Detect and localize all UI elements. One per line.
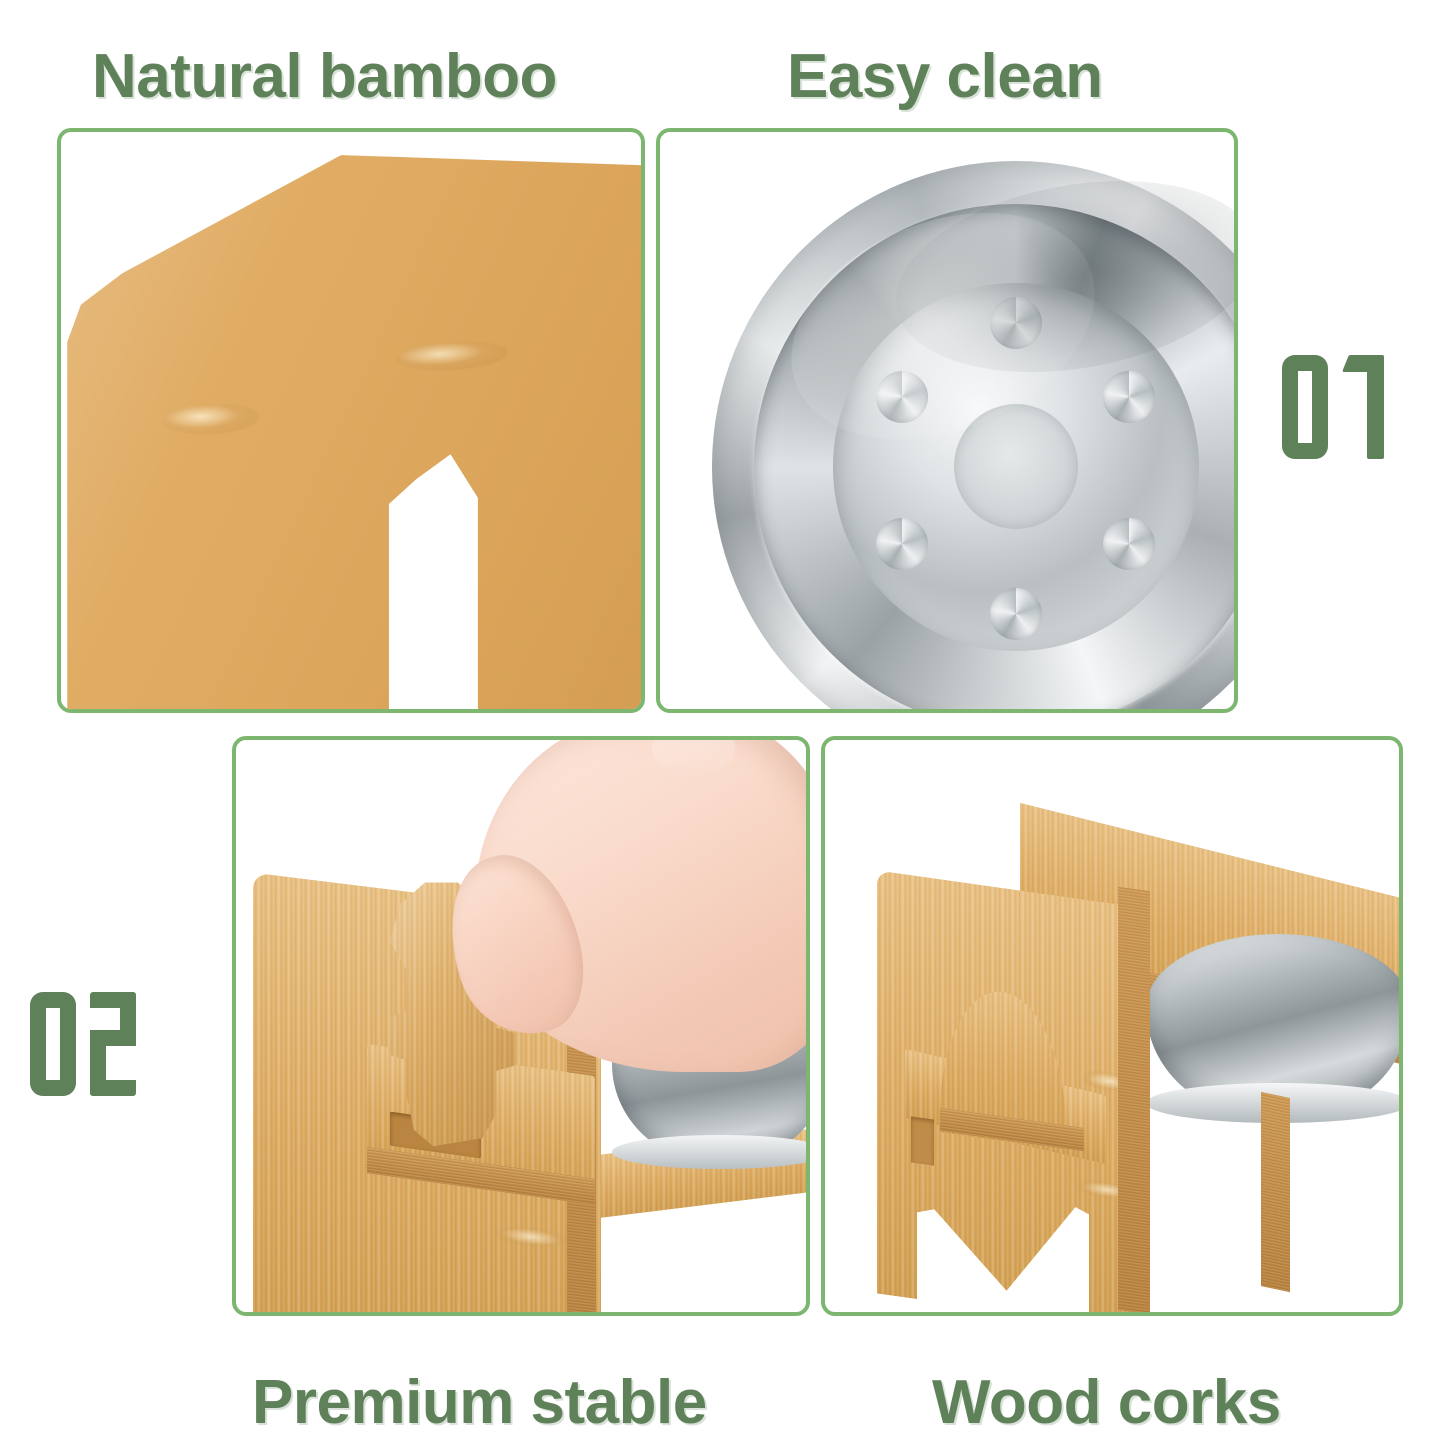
- product-feature-infographic: Natural bamboo Easy clean Premium stable…: [0, 0, 1445, 1445]
- photo-bamboo-board: [61, 132, 641, 709]
- digit-one-bar: [1367, 355, 1384, 459]
- bamboo-grain-knot: [395, 338, 509, 374]
- step-number-01: [1282, 355, 1384, 459]
- digit-two-bottom-segment: [90, 1080, 136, 1096]
- step-01-digit-one: [1342, 355, 1384, 459]
- brand-stamp: [496, 1224, 566, 1251]
- steel-bowl-rim: [612, 1135, 806, 1169]
- photo-hand-inserting-peg: [236, 740, 806, 1312]
- bowl-stud: [990, 588, 1042, 640]
- bowl-stud: [876, 518, 928, 570]
- panel-wood-corks: [821, 736, 1403, 1316]
- feature-label-easy-clean: Easy clean: [787, 46, 1103, 108]
- stand-leg: [1261, 1092, 1290, 1293]
- feature-label-wood-corks: Wood corks: [932, 1372, 1281, 1434]
- steel-bowl-interior: [833, 283, 1199, 651]
- bamboo-board-surface: [61, 155, 641, 709]
- hand-knuckle-highlight: [652, 740, 735, 777]
- bowl-stud: [1103, 518, 1155, 570]
- stand-side-panel-edge: [1118, 887, 1150, 1312]
- photo-wood-cork-detail: [825, 740, 1399, 1312]
- feature-label-natural-bamboo: Natural bamboo: [92, 46, 557, 108]
- bamboo-board-shading: [61, 155, 641, 709]
- step-01-digit-zero: [1282, 355, 1328, 459]
- steel-bowl-wall: [754, 204, 1234, 709]
- bowl-stud: [876, 371, 928, 423]
- steel-bowl-base-circle: [954, 404, 1079, 529]
- bowl-stud: [1103, 371, 1155, 423]
- step-number-02: [30, 992, 136, 1096]
- stand-slot-opening: [911, 1116, 934, 1165]
- steel-bowl-outer-rim: [712, 161, 1234, 709]
- panel-easy-clean: [656, 128, 1238, 713]
- step-02-digit-two: [90, 992, 136, 1096]
- bowl-stud: [990, 297, 1042, 349]
- panel-natural-bamboo: [57, 128, 645, 713]
- step-02-digit-zero: [30, 992, 76, 1096]
- bamboo-grain-knot: [162, 402, 259, 437]
- photo-steel-bowl: [660, 132, 1234, 709]
- panel-premium-stable: [232, 736, 810, 1316]
- feature-label-premium-stable: Premium stable: [252, 1372, 707, 1434]
